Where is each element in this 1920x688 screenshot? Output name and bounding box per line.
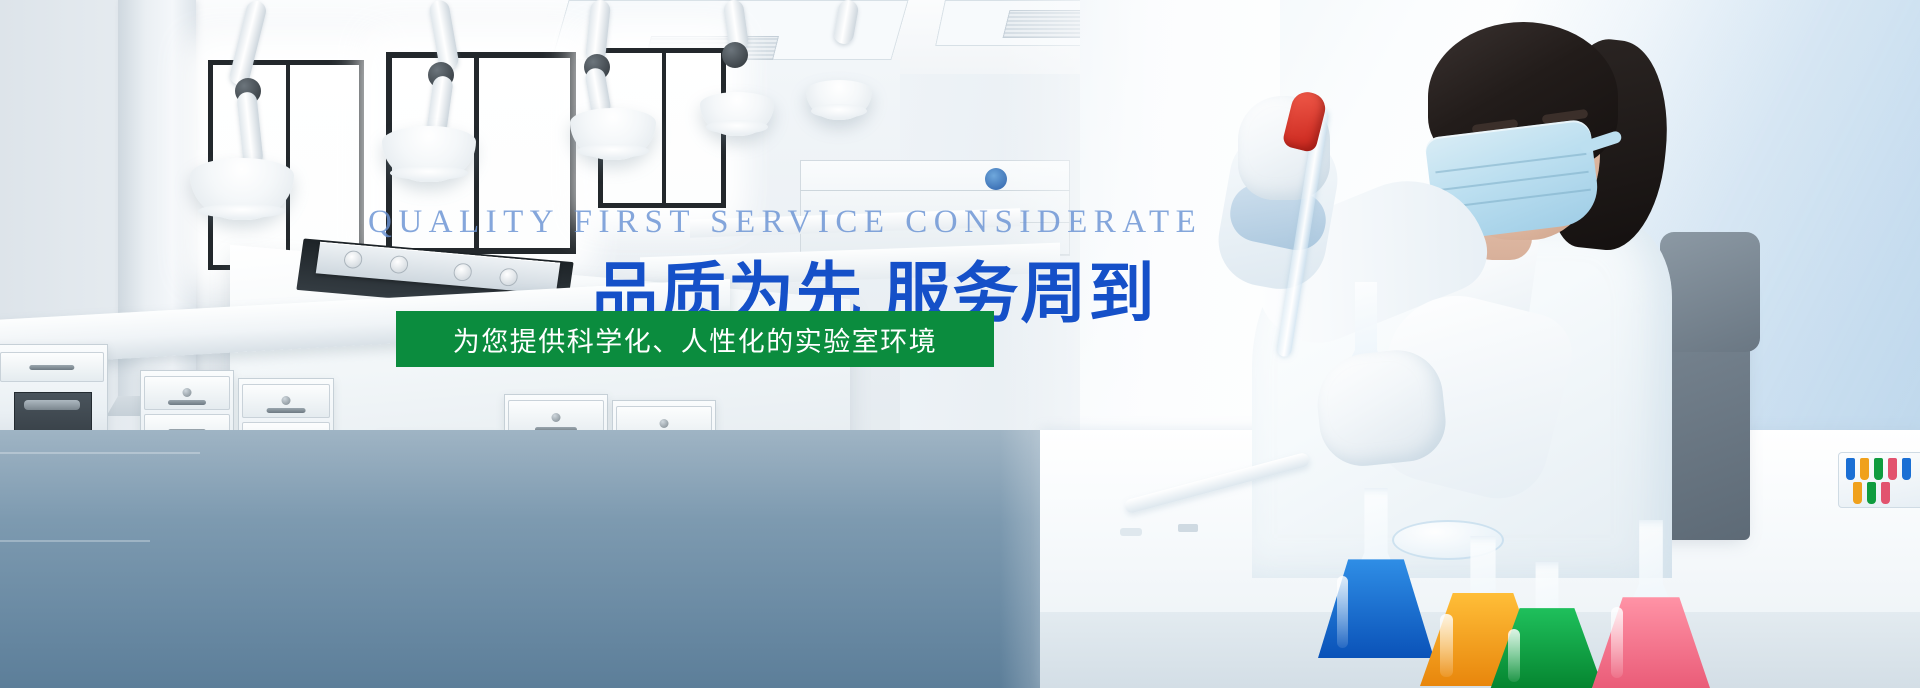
banner-copy: QUALITY FIRST SERVICE CONSIDERATE 品质为先 服… — [0, 0, 1920, 688]
hero-banner: QUALITY FIRST SERVICE CONSIDERATE 品质为先 服… — [0, 0, 1920, 688]
banner-subtitle-text: 为您提供科学化、人性化的实验室环境 — [453, 320, 938, 359]
banner-subtitle-bar: 为您提供科学化、人性化的实验室环境 — [396, 311, 994, 367]
banner-eyebrow-english: QUALITY FIRST SERVICE CONSIDERATE — [368, 204, 1202, 241]
